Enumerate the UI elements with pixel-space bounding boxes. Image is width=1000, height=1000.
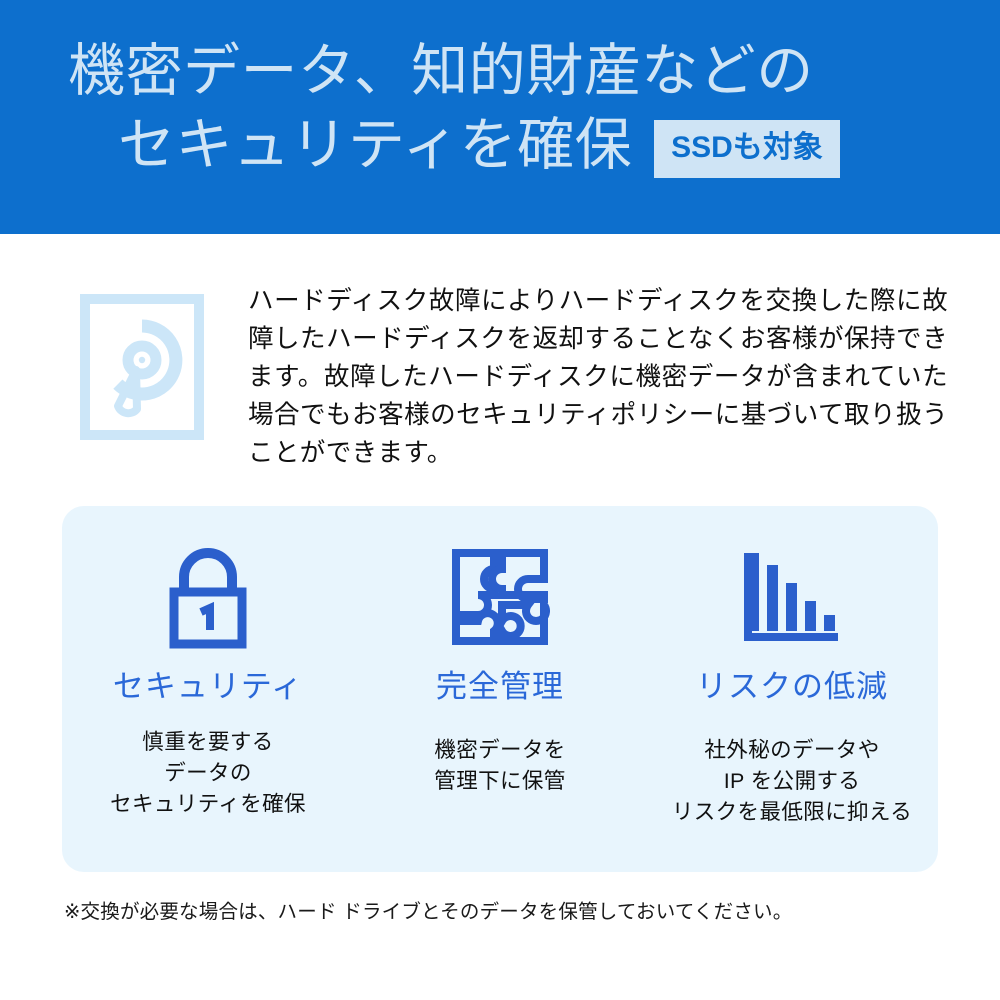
header-banner: 機密データ、知的財産などの セキュリティを確保 SSDも対象 — [0, 0, 1000, 234]
feature-desc-risk: 社外秘のデータや IP を公開する リスクを最低限に抑える — [672, 735, 912, 828]
ssd-badge: SSDも対象 — [654, 120, 840, 178]
hard-disk-drive-icon — [80, 294, 204, 440]
padlock-icon — [160, 544, 256, 650]
headline-line-2: セキュリティを確保 — [118, 108, 632, 182]
feature-desc-management: 機密データを 管理下に保管 — [434, 735, 565, 797]
infographic-page: 機密データ、知的財産などの セキュリティを確保 SSDも対象 ハードディスク故障… — [0, 0, 1000, 1000]
feature-desc-security: 慎重を要する データの セキュリティを確保 — [110, 727, 306, 820]
feature-column-management: 完全管理 機密データを 管理下に保管 — [354, 506, 646, 872]
headline-row-2: セキュリティを確保 SSDも対象 — [68, 108, 948, 182]
bar-chart-decreasing-icon — [742, 544, 842, 650]
feature-column-risk: リスクの低減 社外秘のデータや IP を公開する リスクを最低限に抑える — [646, 506, 938, 872]
intro-section: ハードディスク故障によりハードディスクを交換した際に故障したハードディスクを返却… — [0, 234, 1000, 502]
footnote-text: ※交換が必要な場合は、ハード ドライブとそのデータを保管しておいてください。 — [64, 898, 944, 926]
feature-card: セキュリティ 慎重を要する データの セキュリティを確保 — [62, 506, 938, 872]
header-content: 機密データ、知的財産などの セキュリティを確保 SSDも対象 — [68, 34, 948, 182]
feature-title-management: 完全管理 — [436, 668, 564, 705]
feature-title-risk: リスクの低減 — [696, 668, 888, 705]
feature-column-security: セキュリティ 慎重を要する データの セキュリティを確保 — [62, 506, 354, 872]
puzzle-pieces-icon — [450, 544, 550, 650]
feature-title-security: セキュリティ — [113, 668, 303, 705]
intro-paragraph: ハードディスク故障によりハードディスクを交換した際に故障したハードディスクを返却… — [248, 282, 948, 472]
headline-line-1: 機密データ、知的財産などの — [68, 34, 948, 108]
